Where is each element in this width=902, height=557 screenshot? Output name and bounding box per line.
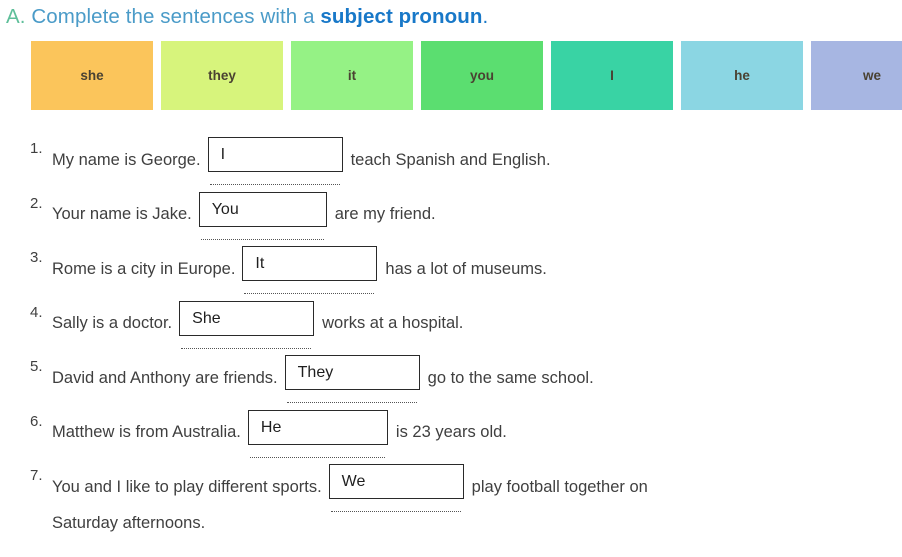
question-text-after: play football together on — [472, 478, 648, 496]
question-body: My name is George.Iteach Spanish and Eng… — [52, 137, 890, 182]
answer-input[interactable]: I — [208, 137, 343, 172]
question-text-before: Rome is a city in Europe. — [52, 260, 235, 278]
answer-field-wrapper: I — [208, 137, 343, 182]
page-title-text-after: . — [482, 5, 488, 28]
word-bank-chip-it[interactable]: it — [291, 41, 413, 110]
question-text-before: My name is George. — [52, 151, 201, 169]
answer-input[interactable]: He — [248, 410, 388, 445]
question-text-before: You and I like to play different sports. — [52, 478, 322, 496]
word-bank-chip-you[interactable]: you — [421, 41, 543, 110]
question-row: 5.David and Anthony are friends.Theygo t… — [30, 355, 890, 400]
question-text-before: David and Anthony are friends. — [52, 369, 278, 387]
word-bank-chip-label: I — [610, 68, 614, 83]
word-bank-chip-he[interactable]: he — [681, 41, 803, 110]
question-body: Rome is a city in Europe.Ithas a lot of … — [52, 246, 890, 291]
question-body: Your name is Jake.Youare my friend. — [52, 192, 890, 237]
question-list: 1.My name is George.Iteach Spanish and E… — [30, 137, 890, 547]
answer-field-wrapper: He — [248, 410, 388, 455]
question-row: 6.Matthew is from Australia.Heis 23 year… — [30, 410, 890, 455]
word-bank-chip-she[interactable]: she — [31, 41, 153, 110]
word-bank-chip-label: you — [470, 68, 494, 83]
question-number: 6. — [30, 410, 52, 430]
page-title: A. Complete the sentences with a subject… — [0, 0, 902, 30]
question-number: 5. — [30, 355, 52, 375]
question-body: You and I like to play different sports.… — [52, 464, 890, 537]
question-text-before: Sally is a doctor. — [52, 314, 172, 332]
answer-field-wrapper: It — [242, 246, 377, 291]
question-text-after: are my friend. — [335, 205, 436, 223]
question-text-after: has a lot of museums. — [385, 260, 546, 278]
question-text-continuation: Saturday afternoons. — [52, 509, 890, 537]
question-text-after: teach Spanish and English. — [351, 151, 551, 169]
answer-input[interactable]: We — [329, 464, 464, 499]
word-bank-chip-label: she — [80, 68, 103, 83]
question-row: 4.Sally is a doctor.Sheworks at a hospit… — [30, 301, 890, 346]
page-title-marker: A. — [6, 5, 26, 28]
word-bank-chip-label: he — [734, 68, 750, 83]
word-bank-chip-label: we — [863, 68, 881, 83]
page-title-text-before: Complete the sentences with a — [26, 5, 321, 28]
question-text-after: go to the same school. — [428, 369, 594, 387]
question-row: 1.My name is George.Iteach Spanish and E… — [30, 137, 890, 182]
question-row: 7.You and I like to play different sport… — [30, 464, 890, 537]
question-body: Sally is a doctor.Sheworks at a hospital… — [52, 301, 890, 346]
answer-field-wrapper: They — [285, 355, 420, 400]
word-bank-chip-they[interactable]: they — [161, 41, 283, 110]
question-number: 3. — [30, 246, 52, 266]
question-text-after: works at a hospital. — [322, 314, 463, 332]
question-row: 2.Your name is Jake.Youare my friend. — [30, 192, 890, 237]
answer-field-wrapper: We — [329, 464, 464, 509]
page-title-emphasis: subject pronoun — [320, 5, 482, 28]
question-text-before: Matthew is from Australia. — [52, 423, 241, 441]
question-row: 3.Rome is a city in Europe.Ithas a lot o… — [30, 246, 890, 291]
question-body: Matthew is from Australia.Heis 23 years … — [52, 410, 890, 455]
answer-field-wrapper: You — [199, 192, 327, 237]
answer-input[interactable]: She — [179, 301, 314, 336]
question-body: David and Anthony are friends.Theygo to … — [52, 355, 890, 400]
question-number: 2. — [30, 192, 52, 212]
question-text-before: Your name is Jake. — [52, 205, 192, 223]
answer-field-wrapper: She — [179, 301, 314, 346]
answer-input[interactable]: They — [285, 355, 420, 390]
answer-input[interactable]: You — [199, 192, 327, 227]
question-number: 1. — [30, 137, 52, 157]
answer-input[interactable]: It — [242, 246, 377, 281]
word-bank: shetheyityouIhewe — [31, 41, 902, 110]
word-bank-chip-label: it — [348, 68, 356, 83]
word-bank-chip-label: they — [208, 68, 236, 83]
question-number: 4. — [30, 301, 52, 321]
question-text-after: is 23 years old. — [396, 423, 507, 441]
word-bank-chip-we[interactable]: we — [811, 41, 902, 110]
question-number: 7. — [30, 464, 52, 484]
word-bank-chip-i[interactable]: I — [551, 41, 673, 110]
